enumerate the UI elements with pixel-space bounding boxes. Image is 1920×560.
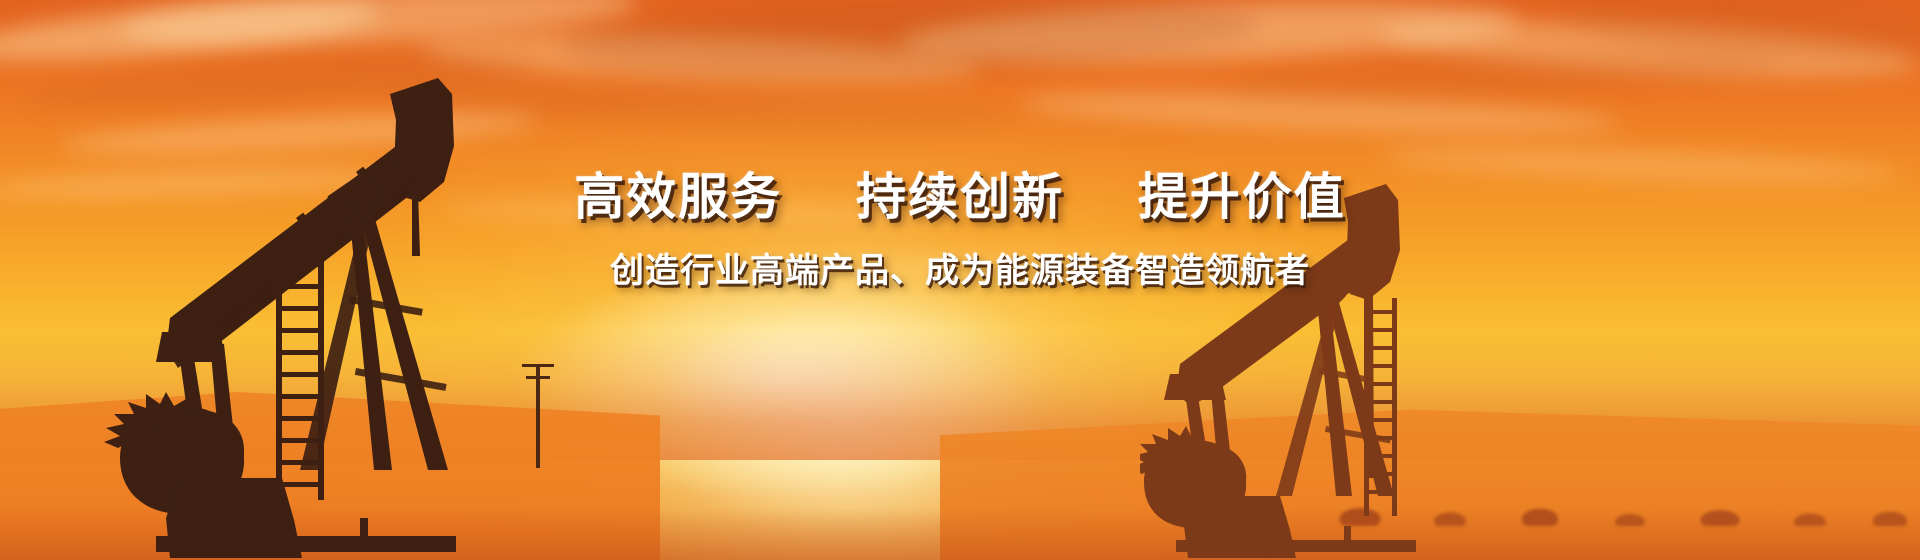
ground-shadow <box>0 508 1920 560</box>
banner-hero: 高效服务 持续创新 提升价值 创造行业高端产品、成为能源装备智造领航者 <box>0 0 1920 560</box>
